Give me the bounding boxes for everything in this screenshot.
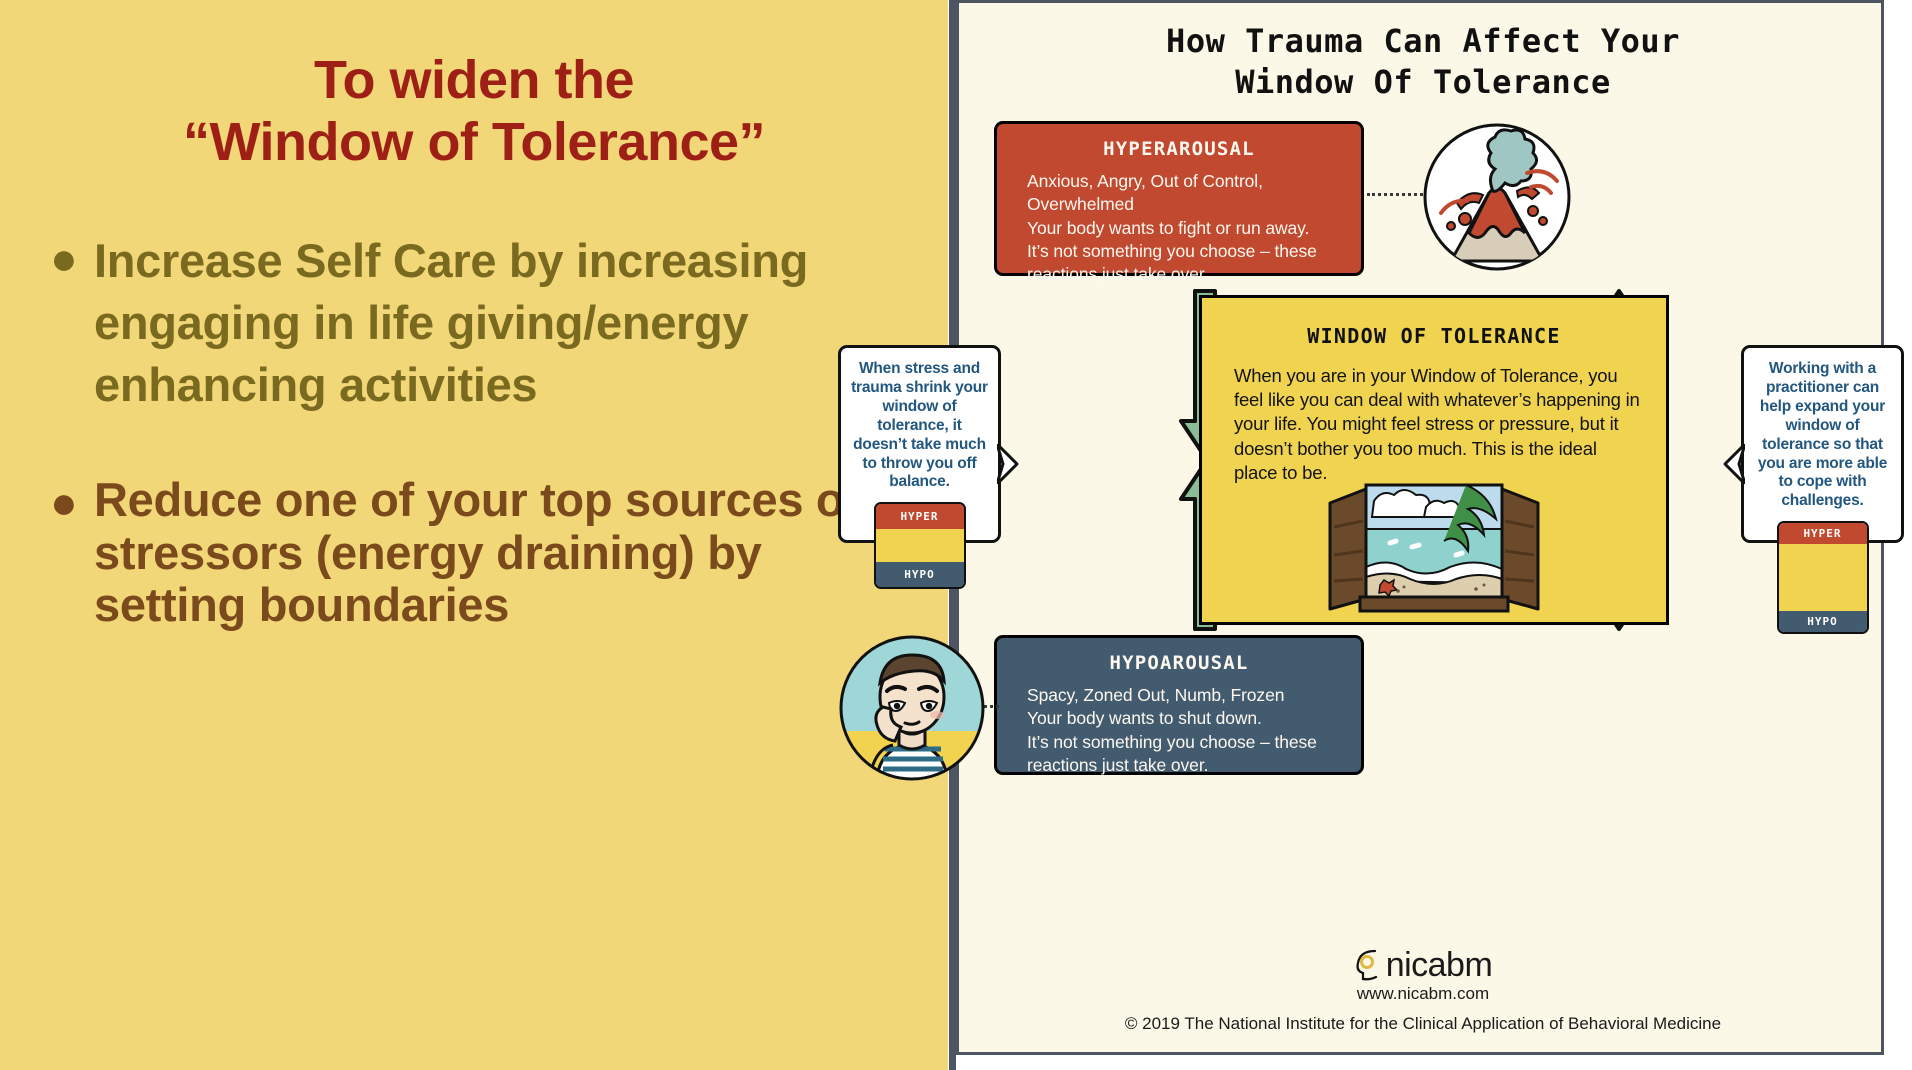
bored-person-icon xyxy=(837,633,987,788)
bar-hypo-label: HYPO xyxy=(876,562,964,587)
slide-title: To widen the “Window of Tolerance” xyxy=(0,50,948,173)
slide: To widen the “Window of Tolerance” ● Inc… xyxy=(0,0,1912,1070)
bullet-text: Increase Self Care by increasing engagin… xyxy=(94,230,908,416)
open-window-beach-icon xyxy=(1316,481,1552,626)
infographic-title-line-1: How Trauma Can Affect Your xyxy=(959,21,1887,62)
callout-right-tail-icon xyxy=(1723,444,1745,484)
bar-window xyxy=(876,529,964,562)
infographic-panel: How Trauma Can Affect Your Window Of Tol… xyxy=(956,0,1912,1070)
left-text-panel: To widen the “Window of Tolerance” ● Inc… xyxy=(0,0,948,1070)
callout-right: Working with a practitioner can help exp… xyxy=(1741,345,1904,543)
hyperarousal-box: HYPERAROUSAL Anxious, Angry, Out of Cont… xyxy=(994,121,1364,276)
hypoarousal-body: Spacy, Zoned Out, Numb, Frozen Your body… xyxy=(1027,684,1331,777)
arousal-bar-stack-shrunk: HYPER HYPO xyxy=(874,502,966,589)
bar-window xyxy=(1779,544,1867,611)
hypoarousal-box: HYPOAROUSAL Spacy, Zoned Out, Numb, Froz… xyxy=(994,635,1364,775)
bullet-list: ● Increase Self Care by increasing engag… xyxy=(0,230,948,632)
hypoarousal-heading: HYPOAROUSAL xyxy=(1027,652,1331,674)
hyperarousal-heading: HYPERAROUSAL xyxy=(1027,138,1331,160)
callout-right-text: Working with a practitioner can help exp… xyxy=(1754,360,1891,511)
infographic-title: How Trauma Can Affect Your Window Of Tol… xyxy=(959,21,1887,103)
slide-title-line-2: “Window of Tolerance” xyxy=(0,112,948,174)
footer: nicabm www.nicabm.com © 2019 The Nationa… xyxy=(959,948,1887,1034)
bar-hyper-label: HYPER xyxy=(1779,523,1867,544)
bullet-text: Reduce one of your top sources of stress… xyxy=(94,474,908,632)
window-of-tolerance-body: When you are in your Window of Tolerance… xyxy=(1234,364,1644,485)
callout-left-text: When stress and trauma shrink your windo… xyxy=(851,360,988,492)
callout-left-tail-icon xyxy=(997,444,1019,484)
infographic-card: How Trauma Can Affect Your Window Of Tol… xyxy=(956,0,1884,1055)
window-of-tolerance-heading: WINDOW OF TOLERANCE xyxy=(1202,324,1666,348)
copyright-text: © 2019 The National Institute for the Cl… xyxy=(959,1014,1887,1034)
connector-line-hyper xyxy=(1367,193,1429,196)
bullet-marker-icon: ● xyxy=(50,230,94,286)
nicabm-logo: nicabm xyxy=(959,948,1887,982)
callout-left: When stress and trauma shrink your windo… xyxy=(838,345,1001,543)
bullet-marker-icon: ● xyxy=(50,474,94,530)
nicabm-logo-text: nicabm xyxy=(1386,948,1493,982)
list-item: ● Increase Self Care by increasing engag… xyxy=(0,230,948,416)
slide-title-line-1: To widen the xyxy=(0,50,948,112)
head-profile-icon xyxy=(1354,949,1384,981)
list-item: ● Reduce one of your top sources of stre… xyxy=(0,474,948,632)
arousal-bar-stack-widened: HYPER HYPO xyxy=(1777,521,1869,634)
infographic-title-line-2: Window Of Tolerance xyxy=(959,62,1887,103)
bar-hyper-label: HYPER xyxy=(876,504,964,529)
bar-hypo-label: HYPO xyxy=(1779,611,1867,632)
hyperarousal-body: Anxious, Angry, Out of Control, Overwhel… xyxy=(1027,170,1331,286)
volcano-icon xyxy=(1421,121,1573,278)
nicabm-url: www.nicabm.com xyxy=(959,984,1887,1004)
